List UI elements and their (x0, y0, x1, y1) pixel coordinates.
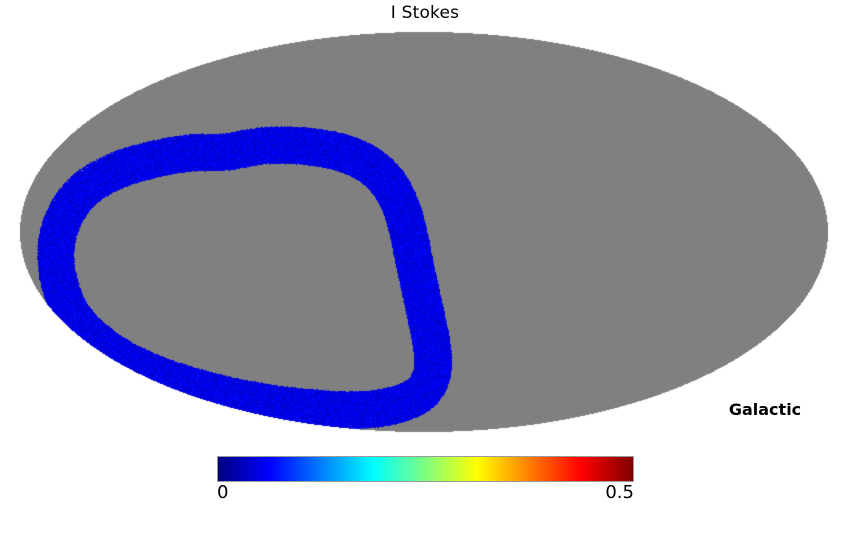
colorbar-max-label: 0.5 (534, 482, 634, 503)
sky-map-figure: I Stokes Galactic 0 0.5 (0, 0, 850, 540)
colorbar-min-label: 0 (217, 482, 228, 503)
coordinate-system-label: Galactic (700, 400, 830, 419)
colorbar[interactable] (217, 456, 634, 482)
page-title: I Stokes (0, 3, 850, 23)
colorbar-gradient[interactable] (217, 456, 634, 482)
mollweide-sky-map (0, 26, 850, 438)
